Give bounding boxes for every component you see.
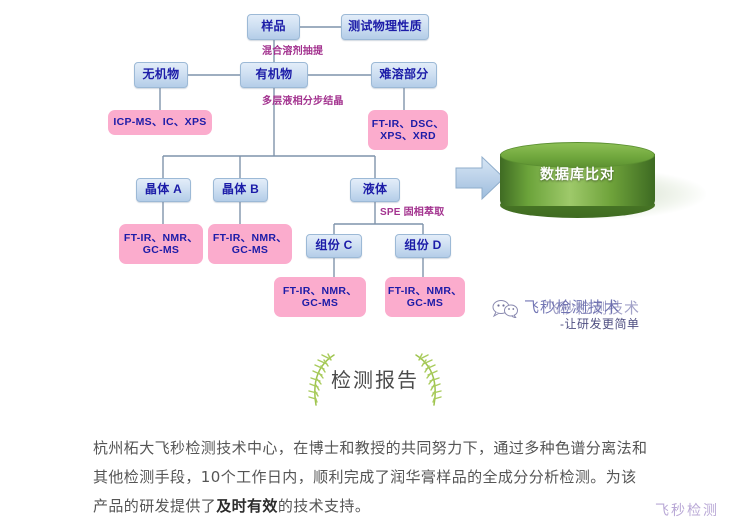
methods-inorganic[interactable]: ICP-MS、IC、XPS bbox=[108, 110, 212, 135]
node-physical-test[interactable]: 测试物理性质 bbox=[341, 14, 429, 40]
node-crystal-b-label: 晶体 B bbox=[222, 183, 259, 197]
edge-label-spe: SPE 固相萃取 bbox=[380, 203, 444, 218]
node-sample-label: 样品 bbox=[261, 20, 286, 34]
node-fraction-d-label: 组份 D bbox=[404, 239, 441, 253]
methods-crystal-b-label: FT-IR、NMR、 GC-MS bbox=[213, 232, 287, 256]
methods-fraction-d-label: FT-IR、NMR、 GC-MS bbox=[388, 285, 462, 309]
node-inorganic[interactable]: 无机物 bbox=[134, 62, 188, 88]
node-fraction-c[interactable]: 组份 C bbox=[306, 234, 362, 258]
corner-watermark: 飞秒检测 bbox=[655, 500, 719, 520]
node-fraction-c-label: 组份 C bbox=[315, 239, 352, 253]
node-insoluble-label: 难溶部分 bbox=[379, 68, 428, 82]
edge-label-crystallization: 多层液相分步结晶 bbox=[262, 92, 344, 107]
methods-crystal-a[interactable]: FT-IR、NMR、 GC-MS bbox=[119, 224, 203, 264]
methods-fraction-d[interactable]: FT-IR、NMR、 GC-MS bbox=[385, 277, 465, 317]
methods-insoluble-label: FT-IR、DSC、 XPS、XRD bbox=[372, 118, 444, 142]
node-organic[interactable]: 有机物 bbox=[240, 62, 308, 88]
methods-inorganic-label: ICP-MS、IC、XPS bbox=[113, 116, 206, 128]
methods-fraction-c-label: FT-IR、NMR、 GC-MS bbox=[283, 285, 357, 309]
node-liquid[interactable]: 液体 bbox=[350, 178, 400, 202]
analysis-flow-diagram: 样品 测试物理性质 无机物 有机物 难溶部分 晶体 A 晶体 B 液体 组份 C… bbox=[0, 0, 740, 340]
node-inorganic-label: 无机物 bbox=[143, 68, 180, 82]
node-crystal-a-label: 晶体 A bbox=[145, 183, 182, 197]
report-paragraph: 杭州柘大飞秒检测技术中心，在博士和教授的共同努力下，通过多种色谱分离法和其他检测… bbox=[93, 434, 649, 521]
edge-label-extraction: 混合溶剂抽提 bbox=[262, 42, 323, 57]
laurel-right-icon bbox=[412, 352, 446, 408]
report-paragraph-part2: 的技术支持。 bbox=[278, 497, 370, 515]
node-sample[interactable]: 样品 bbox=[247, 14, 300, 40]
database-label: 数据库比对 bbox=[500, 164, 655, 184]
watermark-brand-line-2: -让研发更简单 bbox=[560, 315, 640, 332]
database-comparison-node[interactable]: 数据库比对 bbox=[500, 142, 710, 222]
node-crystal-a[interactable]: 晶体 A bbox=[136, 178, 191, 202]
methods-insoluble[interactable]: FT-IR、DSC、 XPS、XRD bbox=[368, 110, 448, 150]
wechat-icon bbox=[492, 298, 518, 318]
report-heading-block: 检测报告 bbox=[300, 352, 450, 408]
methods-fraction-c[interactable]: FT-IR、NMR、 GC-MS bbox=[274, 277, 366, 317]
node-crystal-b[interactable]: 晶体 B bbox=[213, 178, 268, 202]
node-fraction-d[interactable]: 组份 D bbox=[395, 234, 451, 258]
report-paragraph-emphasis: 及时有效 bbox=[216, 497, 278, 515]
flow-arrow-icon bbox=[455, 155, 505, 201]
wechat-watermark: 飞秒检测技术 飞秒检测技术 -让研发更简单 bbox=[492, 296, 732, 342]
node-insoluble[interactable]: 难溶部分 bbox=[371, 62, 437, 88]
node-organic-label: 有机物 bbox=[256, 68, 293, 82]
node-physical-test-label: 测试物理性质 bbox=[348, 20, 422, 34]
methods-crystal-b[interactable]: FT-IR、NMR、 GC-MS bbox=[208, 224, 292, 264]
node-liquid-label: 液体 bbox=[363, 183, 388, 197]
screenshot-root: 样品 测试物理性质 无机物 有机物 难溶部分 晶体 A 晶体 B 液体 组份 C… bbox=[0, 0, 740, 532]
methods-crystal-a-label: FT-IR、NMR、 GC-MS bbox=[124, 232, 198, 256]
